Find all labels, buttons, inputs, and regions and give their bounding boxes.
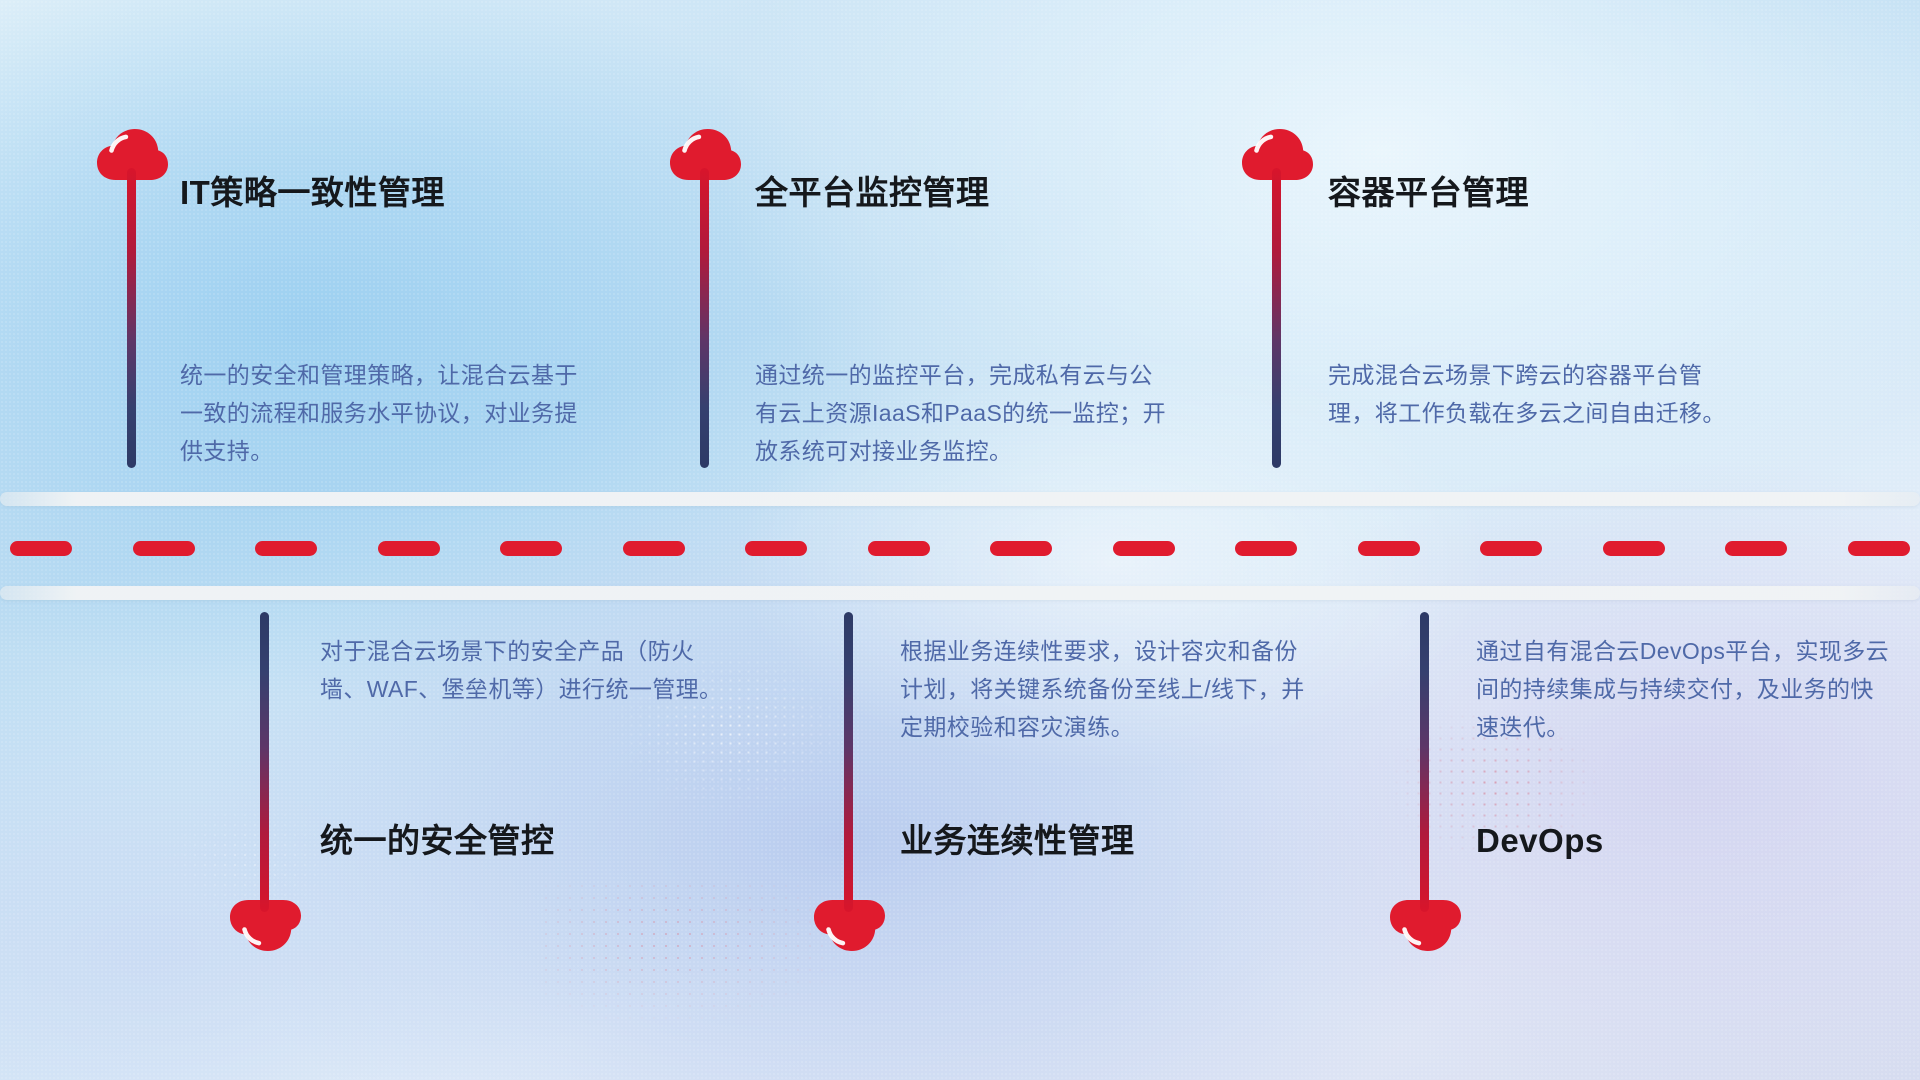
- marker-stem: [260, 612, 269, 912]
- road-dash: [623, 541, 685, 556]
- road-dash: [1725, 541, 1787, 556]
- road-dash: [1358, 541, 1420, 556]
- road-dash: [500, 541, 562, 556]
- marker-stem: [127, 168, 136, 468]
- marker-stem: [1272, 168, 1281, 468]
- marker-body: 完成混合云场景下跨云的容器平台管理，将工作负载在多云之间自由迁移。: [1328, 356, 1748, 432]
- road-dash: [10, 541, 72, 556]
- marker-body: 统一的安全和管理策略，让混合云基于一致的流程和服务水平协议，对业务提供支持。: [180, 356, 600, 470]
- infographic-canvas: IT策略一致性管理 统一的安全和管理策略，让混合云基于一致的流程和服务水平协议，…: [0, 0, 1920, 1080]
- road-edge-bottom: [0, 586, 1920, 600]
- marker-heading: 容器平台管理: [1328, 176, 1529, 209]
- road-dash: [1603, 541, 1665, 556]
- marker-heading: IT策略一致性管理: [180, 176, 445, 209]
- marker-body: 对于混合云场景下的安全产品（防火墙、WAF、堡垒机等）进行统一管理。: [320, 632, 740, 708]
- road-dash: [1235, 541, 1297, 556]
- road-dash: [133, 541, 195, 556]
- road-dash: [255, 541, 317, 556]
- marker-stem: [1420, 612, 1429, 912]
- marker-body: 通过统一的监控平台，完成私有云与公有云上资源IaaS和PaaS的统一监控；开放系…: [755, 356, 1175, 470]
- marker-heading: 全平台监控管理: [755, 176, 990, 209]
- marker-heading: 统一的安全管控: [320, 824, 555, 857]
- road-dash: [378, 541, 440, 556]
- marker-heading: 业务连续性管理: [900, 824, 1135, 857]
- road-dash: [1113, 541, 1175, 556]
- road-dash: [745, 541, 807, 556]
- marker-heading: DevOps: [1476, 824, 1604, 857]
- road-edge-top: [0, 492, 1920, 506]
- marker-body: 通过自有混合云DevOps平台，实现多云间的持续集成与持续交付，及业务的快速迭代…: [1476, 632, 1896, 746]
- road-dash: [1480, 541, 1542, 556]
- road-dash: [1848, 541, 1910, 556]
- marker-body: 根据业务连续性要求，设计容灾和备份计划，将关键系统备份至线上/线下，并定期校验和…: [900, 632, 1320, 746]
- road-dash: [868, 541, 930, 556]
- marker-stem: [844, 612, 853, 912]
- road-dash: [990, 541, 1052, 556]
- road-center-dashes: [0, 540, 1920, 556]
- marker-stem: [700, 168, 709, 468]
